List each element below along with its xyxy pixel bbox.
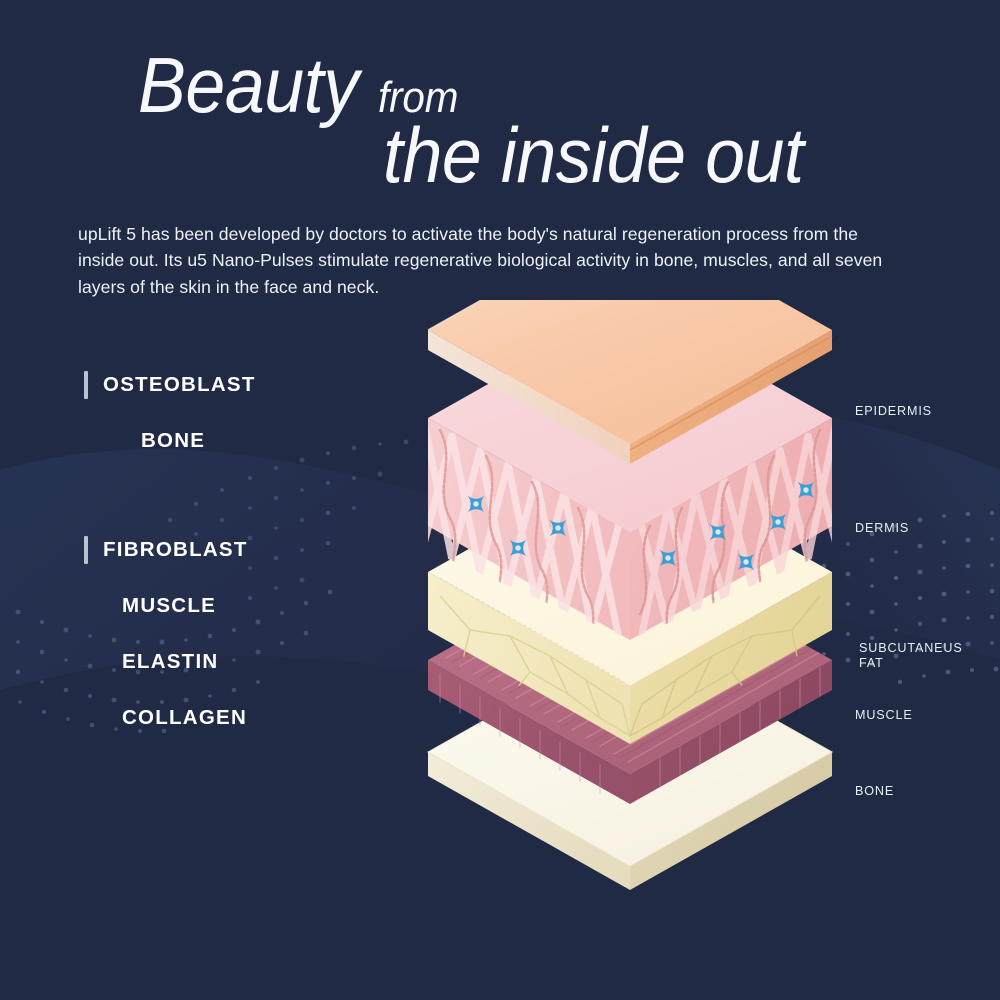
intro-paragraph: upLift 5 has been developed by doctors t… [78, 221, 908, 301]
keyword-label: MUSCLE [122, 594, 216, 618]
dot-field-middle [168, 440, 409, 601]
anatomy-label-epidermis: EPIDERMIS [855, 404, 932, 419]
keyword-label: ELASTIN [122, 650, 218, 674]
accent-bar-icon [84, 371, 88, 399]
headline-line-2: the inside out [78, 118, 928, 192]
keyword-item-muscle: MUSCLE [103, 591, 216, 621]
headline-phrase-inside-out: the inside out [383, 118, 803, 192]
poster-canvas: Beautyfrom the inside out upLift 5 has b… [0, 0, 1000, 1000]
anatomy-label-dermis: DERMIS [855, 521, 909, 536]
headline-block: Beautyfrom the inside out [0, 48, 1000, 192]
skin-layer-illustration [400, 300, 860, 920]
anatomy-label-muscle: MUSCLE [855, 708, 913, 723]
keyword-label: BONE [141, 429, 205, 453]
accent-bar-icon [84, 536, 88, 564]
anatomy-label-bone: BONE [855, 784, 894, 799]
keyword-label: OSTEOBLAST [103, 373, 256, 397]
keyword-item-elastin: ELASTIN [103, 647, 218, 677]
keyword-item-bone: BONE [122, 426, 205, 456]
keyword-item-fibroblast: FIBROBLAST [84, 535, 248, 565]
anatomy-label-subcutaneous-fat: SUBCUTANEUS FAT [859, 641, 963, 672]
headline-word-beauty: Beauty [138, 48, 359, 122]
keyword-item-osteoblast: OSTEOBLAST [84, 370, 256, 400]
keyword-label: FIBROBLAST [103, 538, 248, 562]
keyword-label: COLLAGEN [122, 706, 247, 730]
keyword-item-collagen: COLLAGEN [103, 703, 247, 733]
